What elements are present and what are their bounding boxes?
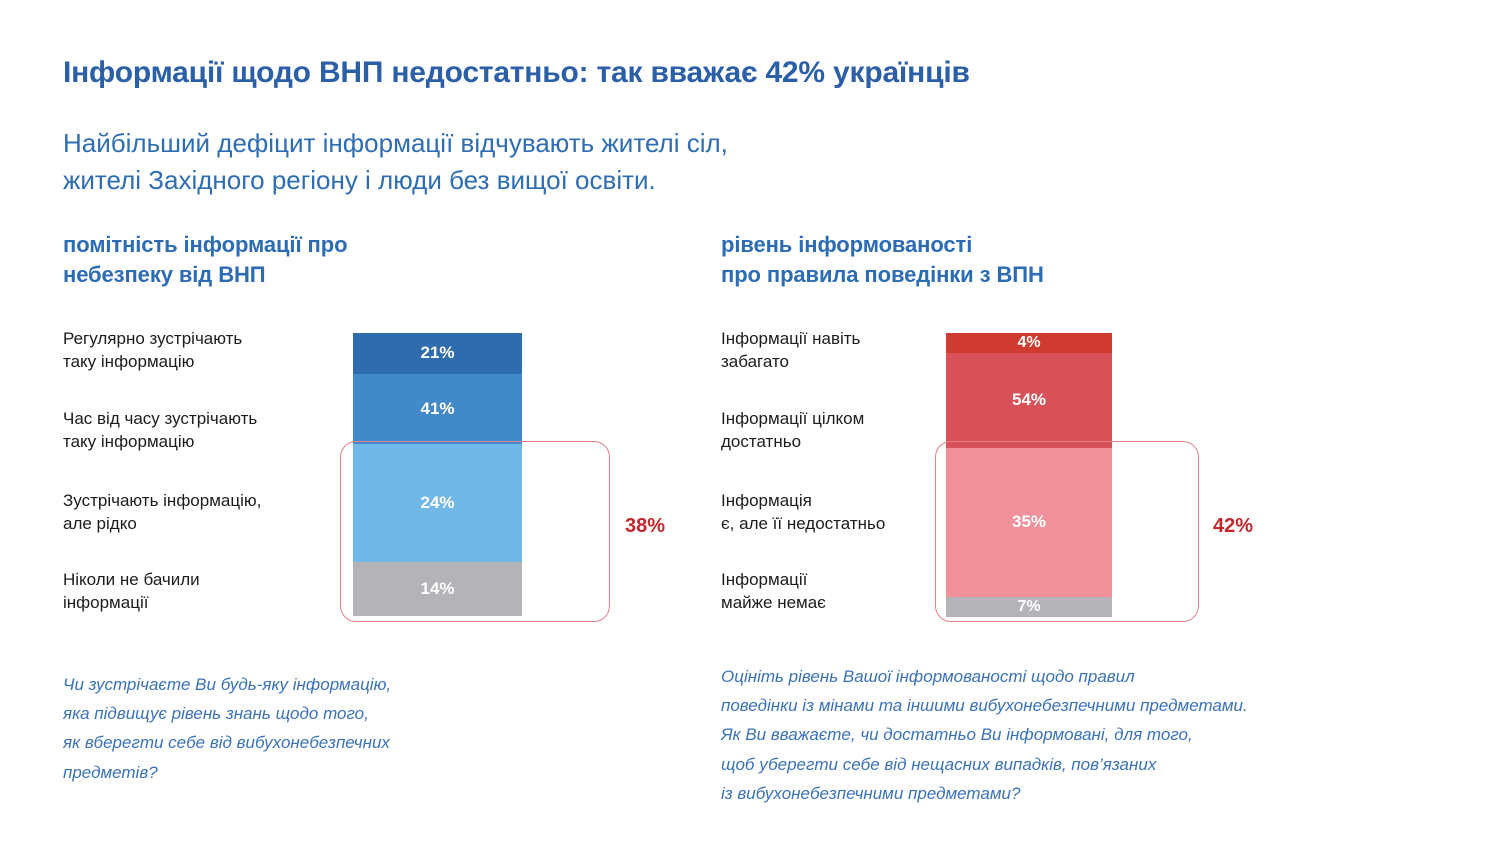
footnote-line-3: Як Ви вважаєте, чи достатньо Ви інформов… bbox=[721, 720, 1441, 749]
page-title: Інформації щодо ВНП недостатньо: так вва… bbox=[63, 55, 1403, 90]
footnote-line-2: яка підвищує рівень знань щодо того, bbox=[63, 699, 623, 728]
chart-footnote-visibility: Чи зустрічаєте Ви будь-яку інформацію, я… bbox=[63, 670, 623, 787]
bar-segment-sometimes[interactable]: 41% bbox=[353, 374, 522, 444]
category-label: Інформації навіть забагато bbox=[721, 328, 860, 374]
footnote-line-1: Чи зустрічаєте Ви будь-яку інформацію, bbox=[63, 670, 623, 699]
bar-segment-not-enough[interactable]: 35% bbox=[946, 448, 1112, 597]
category-label: Інформація є, але її недостатньо bbox=[721, 490, 885, 536]
bar-segment-too-much[interactable]: 4% bbox=[946, 333, 1112, 353]
category-label: Інформації майже немає bbox=[721, 569, 826, 615]
bar-segment-regularly[interactable]: 21% bbox=[353, 333, 522, 374]
footnote-line-4: щоб уберегти себе від нещасних випадків,… bbox=[721, 750, 1441, 779]
heading-line-2: про правила поведінки з ВПН bbox=[721, 260, 1421, 290]
heading-line-1: помітність інформації про bbox=[63, 230, 703, 260]
footnote-line-2: поведінки із мінами та іншими вибухонебе… bbox=[721, 691, 1441, 720]
bar-segment-never[interactable]: 14% bbox=[353, 562, 522, 616]
page-subtitle-line-1: Найбільший дефіцит інформації відчувають… bbox=[63, 125, 1263, 162]
highlight-total-label: 42% bbox=[1213, 515, 1253, 538]
highlight-total-label: 38% bbox=[625, 515, 665, 538]
page-subtitle: Найбільший дефіцит інформації відчувають… bbox=[63, 125, 1263, 199]
footnote-line-3: як вберегти себе від вибухонебезпечних bbox=[63, 728, 623, 757]
bar-segment-rarely[interactable]: 24% bbox=[353, 444, 522, 562]
bar-segment-almost-none[interactable]: 7% bbox=[946, 597, 1112, 617]
category-label: Зустрічають інформацію, але рідко bbox=[63, 490, 261, 536]
heading-line-1: рівень інформованості bbox=[721, 230, 1421, 260]
bar-segment-enough[interactable]: 54% bbox=[946, 353, 1112, 448]
stacked-bar-awareness: 4% 54% 35% 7% bbox=[946, 333, 1112, 617]
chart-panel-awareness-heading: рівень інформованості про правила поведі… bbox=[721, 230, 1421, 291]
chart-panel-awareness: рівень інформованості про правила поведі… bbox=[721, 230, 1421, 623]
category-label: Час від часу зустрічають таку інформацію bbox=[63, 408, 257, 454]
chart-area-awareness: Інформації навіть забагато Інформації ці… bbox=[721, 323, 1421, 623]
chart-area-visibility: Регулярно зустрічають таку інформацію Ча… bbox=[63, 323, 703, 623]
footnote-line-5: із вибухонебезпечними предметами? bbox=[721, 779, 1441, 808]
footnote-line-1: Оцініть рівень Вашої інформованості щодо… bbox=[721, 662, 1441, 691]
footnote-line-4: предметів? bbox=[63, 758, 623, 787]
category-label: Регулярно зустрічають таку інформацію bbox=[63, 328, 242, 374]
category-label: Ніколи не бачили інформації bbox=[63, 569, 200, 615]
chart-footnote-awareness: Оцініть рівень Вашої інформованості щодо… bbox=[721, 662, 1441, 808]
chart-panel-visibility-heading: помітність інформації про небезпеку від … bbox=[63, 230, 703, 291]
heading-line-2: небезпеку від ВНП bbox=[63, 260, 703, 290]
category-label: Інформації цілком достатньо bbox=[721, 408, 864, 454]
page-subtitle-line-2: жителі Західного регіону і люди без вищо… bbox=[63, 162, 1263, 199]
chart-panel-visibility: помітність інформації про небезпеку від … bbox=[63, 230, 703, 623]
stacked-bar-visibility: 21% 41% 24% 14% bbox=[353, 333, 522, 616]
